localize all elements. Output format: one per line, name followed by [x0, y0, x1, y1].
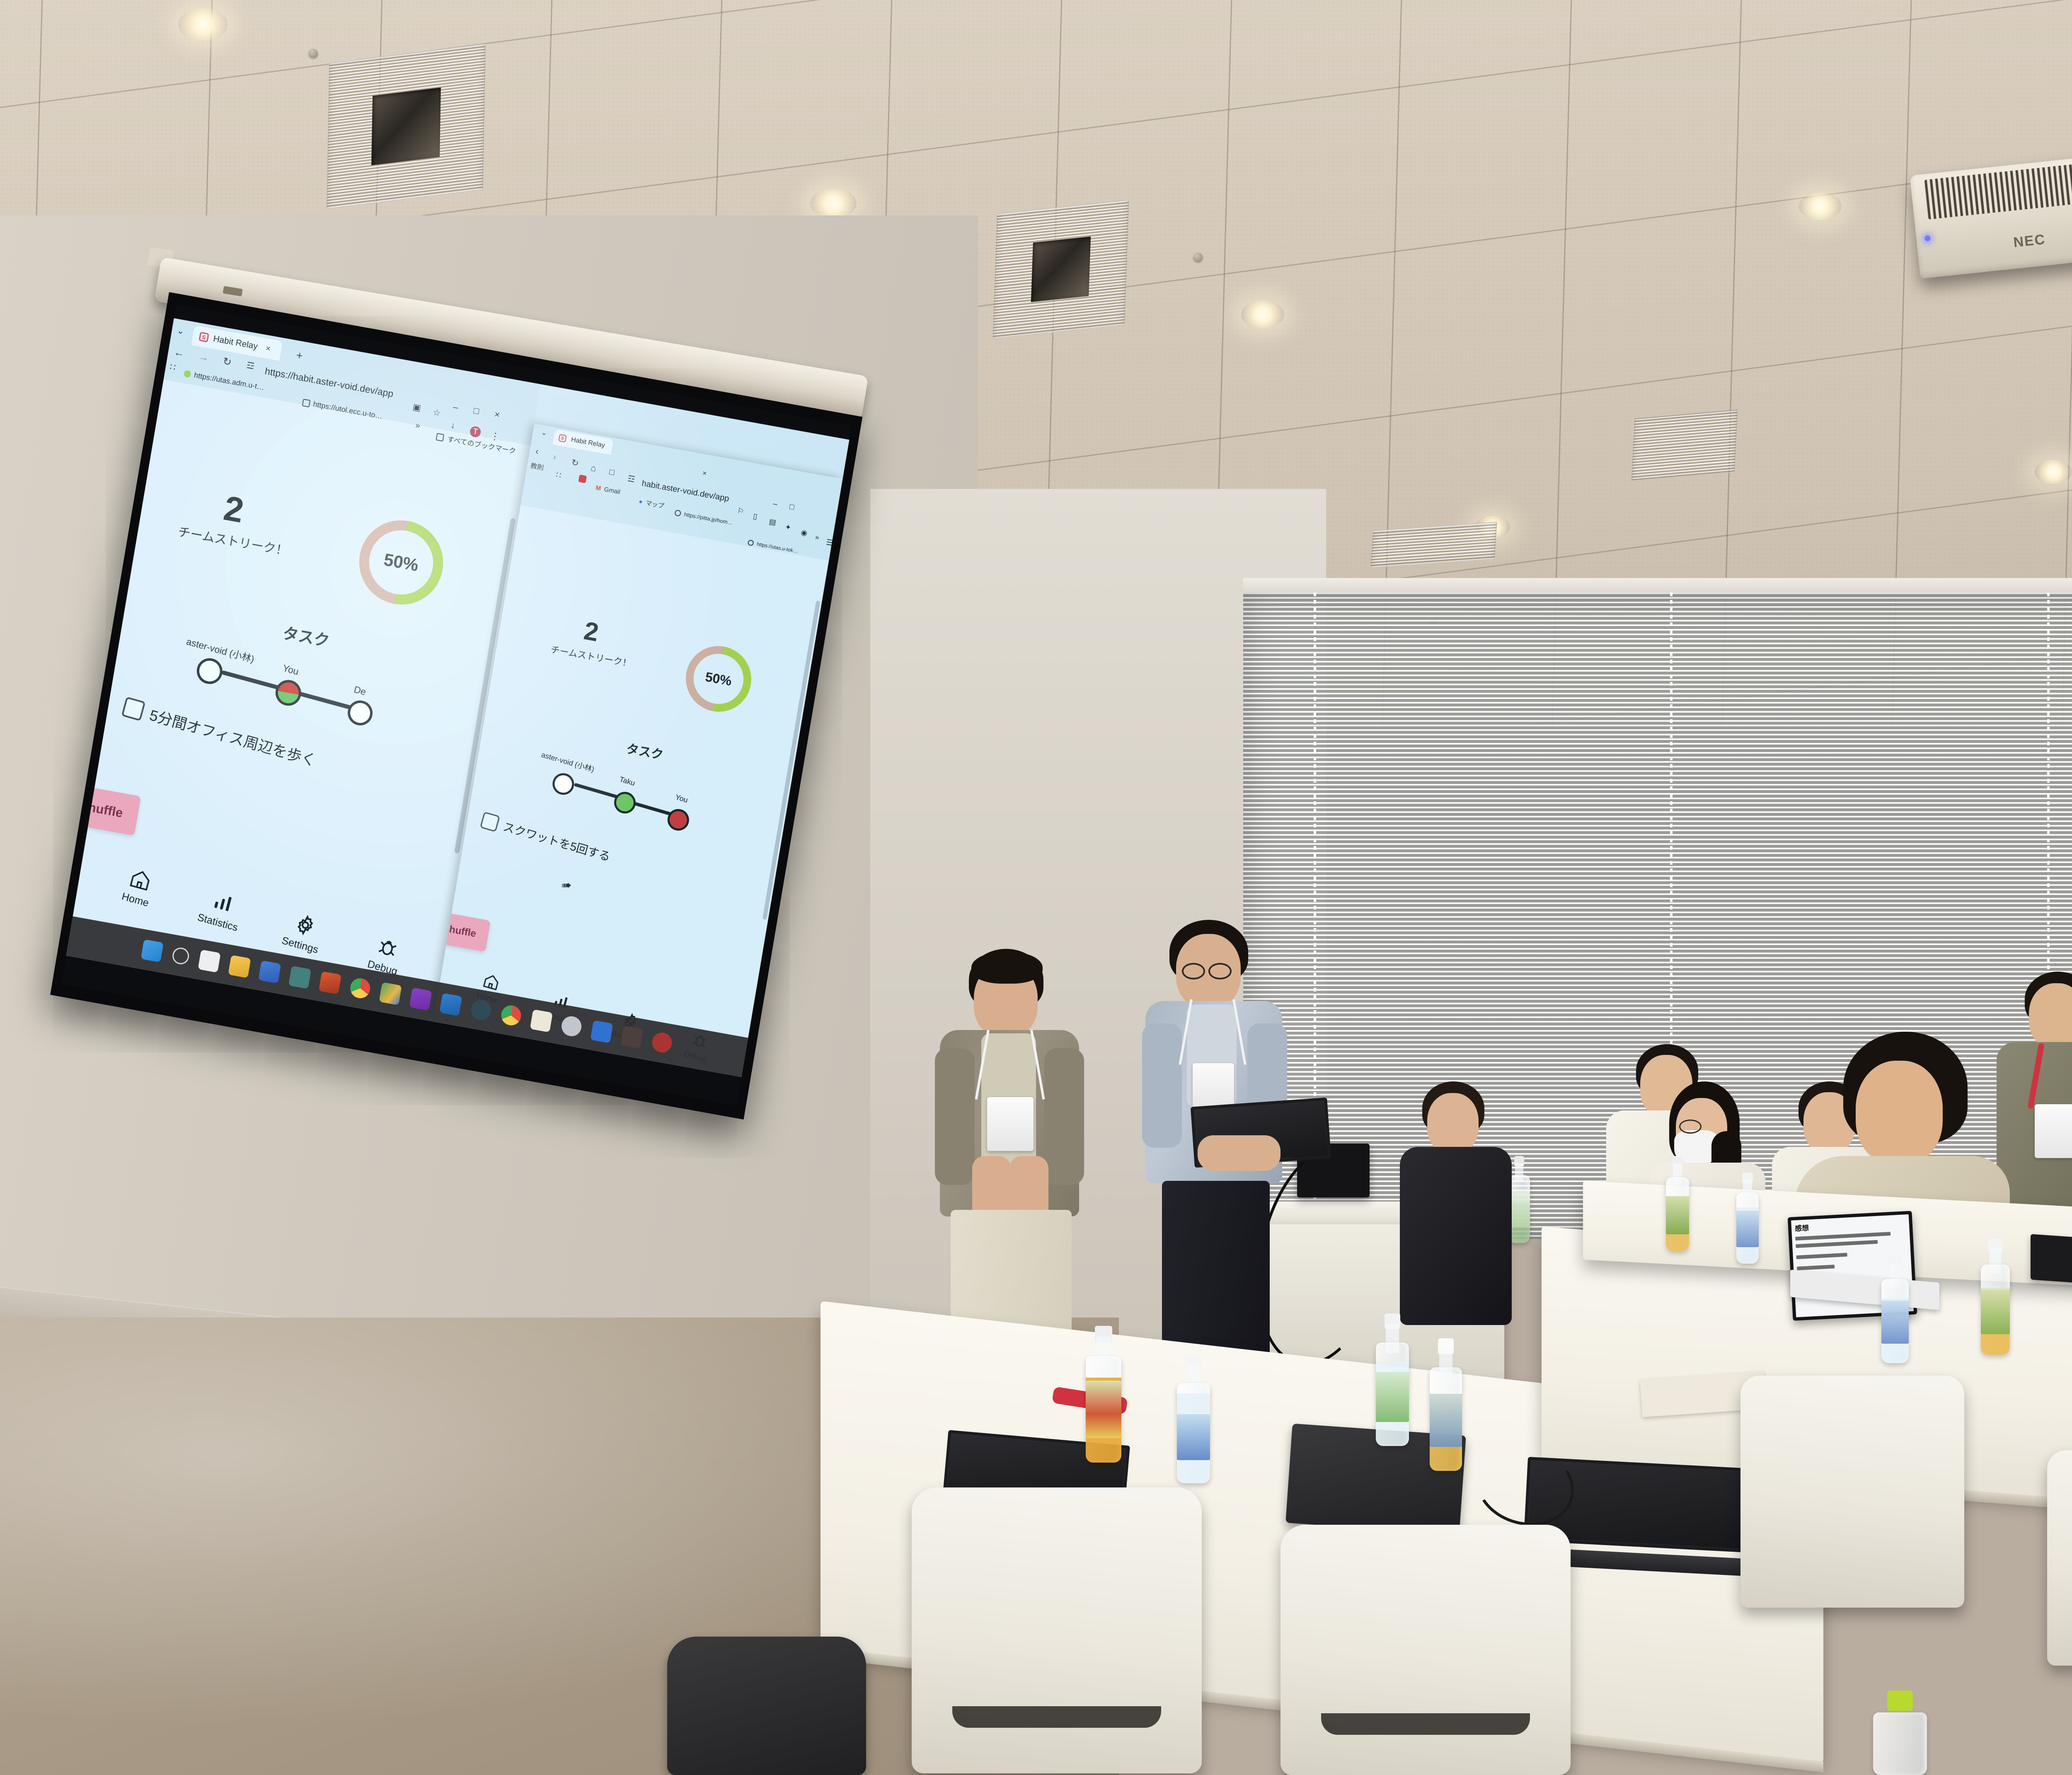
bottle-label — [1881, 1301, 1909, 1344]
tab-title: Habit Relay — [213, 334, 259, 352]
relay-node[interactable] — [346, 699, 375, 728]
downlight — [2035, 460, 2072, 484]
gear-icon — [292, 912, 318, 938]
relay-node[interactable] — [612, 790, 637, 815]
menu-icon[interactable]: ☰ — [825, 537, 834, 548]
tab-favicon-icon: S — [198, 332, 209, 343]
bookmark-label: https://utas.u-tok… — [756, 541, 798, 554]
settings-icon[interactable] — [560, 1015, 583, 1038]
bookmark-label: https://pitta.jp/hom… — [684, 511, 733, 526]
relay-connector — [574, 783, 619, 798]
todo-label: スクワットを5回する — [501, 818, 612, 865]
tab-close-icon[interactable]: × — [702, 469, 707, 478]
chrome-icon-2[interactable] — [500, 1004, 523, 1027]
globe-icon — [748, 539, 754, 546]
head — [2029, 983, 2072, 1049]
torso — [1400, 1147, 1512, 1325]
bookmark-item[interactable]: https://utas.u-tok… — [748, 539, 799, 554]
relay-chain-right: aster-void (小林) Taku You — [529, 751, 725, 838]
reload-icon[interactable]: ↻ — [222, 355, 233, 369]
vent-core — [371, 87, 441, 165]
forearm — [1198, 1135, 1280, 1171]
chair[interactable] — [2047, 1450, 2072, 1666]
glasses-left — [1182, 963, 1205, 979]
relay-node[interactable] — [551, 771, 576, 796]
maximize-icon[interactable]: □ — [473, 405, 480, 417]
streak-value: 2 — [582, 618, 600, 646]
task-view-icon[interactable] — [198, 950, 220, 973]
back-icon[interactable]: ← — [173, 346, 185, 360]
arm-left — [1142, 1023, 1182, 1148]
folder-icon — [436, 433, 444, 441]
relay-node-label: You — [281, 663, 300, 677]
tasks-heading: タスク — [625, 738, 665, 763]
todo-checkbox[interactable] — [121, 696, 146, 721]
file-explorer-icon[interactable] — [228, 955, 251, 978]
glasses-right — [1208, 963, 1232, 979]
bell-icon[interactable]: ⚐ — [736, 506, 744, 516]
attendee-black-top — [1397, 1081, 1521, 1330]
tune-icon[interactable]: ☲ — [246, 360, 255, 372]
maps-pin-icon: ● — [638, 498, 643, 505]
tab-title: Habit Relay — [571, 436, 605, 450]
relay-connector — [221, 670, 282, 691]
water-bottle[interactable] — [1086, 1326, 1121, 1463]
onenote-icon[interactable] — [409, 987, 432, 1011]
bottle-label — [1981, 1288, 2010, 1334]
chair[interactable] — [1740, 1376, 1964, 1608]
bottle-label — [1736, 1211, 1759, 1247]
screen-brand-badge — [223, 286, 242, 296]
projector-status-led — [1924, 235, 1931, 242]
bottle-label — [1430, 1394, 1462, 1447]
progress-ring-left: 50% — [349, 508, 454, 617]
bookmark-dot-icon — [183, 370, 191, 378]
tab-favicon-icon: S — [558, 434, 567, 443]
head — [1856, 1061, 1943, 1164]
nav-label: Home — [120, 890, 150, 909]
nav-label: Statistics — [196, 912, 239, 934]
bottle-label — [1666, 1196, 1689, 1234]
slide-line — [1797, 1265, 1835, 1270]
translate-icon[interactable]: ▣ — [412, 402, 422, 414]
browser-chrome-right: ⌄ S Habit Relay ‹ › ↻ ⌂ □ ☲ — [520, 423, 842, 561]
steam-icon[interactable] — [470, 999, 492, 1022]
recorder-icon[interactable] — [651, 1031, 673, 1054]
forward-icon[interactable]: → — [198, 351, 210, 364]
todo-item-right[interactable]: スクワットを5回する — [480, 812, 612, 865]
bookmark-label: Gmail — [603, 486, 620, 496]
water-bottle[interactable] — [1376, 1313, 1409, 1446]
tab-list-chevron-icon[interactable]: ⌄ — [176, 325, 185, 337]
bottle-cap — [1887, 1690, 1913, 1711]
collections-icon[interactable]: ▤ — [768, 517, 777, 527]
relay-node[interactable] — [666, 807, 691, 832]
ceiling-air-vent — [327, 44, 485, 209]
relay-node-label: Taku — [618, 775, 636, 788]
bookmark-item[interactable]: https://pitta.jp/hom… — [674, 510, 733, 526]
screen-surface: ⌄ S Habit Relay × + ← → ↻ — [61, 305, 852, 1106]
chair-handle-slot — [952, 1706, 1161, 1728]
water-bottle[interactable] — [1666, 1156, 1689, 1251]
nav-label: Settings — [281, 935, 320, 956]
bookmark-label: https://utol.ecc.u-to… — [312, 400, 383, 421]
zoom-icon[interactable] — [590, 1020, 613, 1043]
relay-node-label: You — [674, 793, 689, 805]
bookmark-icon[interactable]: □ — [609, 467, 615, 478]
relay-node-label: aster-void (小林) — [540, 749, 596, 774]
ceiling-air-vent — [1631, 409, 1738, 481]
bookmark-square-icon — [302, 399, 311, 407]
slide-line — [1796, 1240, 1878, 1248]
projection-screen: ⌄ S Habit Relay × + ← → ↻ — [50, 292, 862, 1120]
water-bottle[interactable] — [1736, 1173, 1759, 1264]
glasses — [1679, 1120, 1702, 1134]
relay-node-label: aster-void (小林) — [185, 634, 256, 665]
chair-handle-slot — [1321, 1713, 1530, 1735]
terminal-icon[interactable] — [620, 1025, 643, 1049]
back-icon[interactable]: ‹ — [535, 446, 540, 457]
head — [1427, 1093, 1479, 1154]
water-bottle[interactable] — [1430, 1338, 1462, 1471]
relay-node[interactable] — [274, 678, 303, 708]
bookmark-item[interactable]: M Gmail — [595, 484, 621, 496]
ceiling-air-vent — [993, 200, 1129, 339]
backpack[interactable] — [667, 1637, 866, 1775]
reload-icon[interactable]: ↻ — [571, 457, 580, 469]
chrome-icon[interactable] — [349, 977, 372, 1000]
chair[interactable] — [1280, 1525, 1571, 1775]
home-icon — [481, 972, 501, 992]
brave-icon[interactable] — [319, 971, 341, 994]
bar-chart-icon — [210, 889, 236, 916]
bug-icon — [375, 935, 401, 961]
chair[interactable] — [912, 1487, 1202, 1773]
water-bottle-foreground[interactable] — [1873, 1690, 1927, 1775]
progress-ring-right: 50% — [678, 636, 759, 722]
relay-node[interactable] — [195, 656, 224, 686]
bookmark-item[interactable]: ● マップ — [638, 497, 665, 510]
conference-room-scene: NEC ⌄ S Ha — [0, 0, 2072, 1775]
forward-icon[interactable]: › — [552, 452, 557, 463]
mouse-cursor: ➠ — [561, 878, 572, 893]
drive-icon[interactable] — [379, 982, 402, 1005]
streak-value: 2 — [221, 490, 246, 528]
bottle-label — [1177, 1414, 1210, 1461]
sprinkler-head — [1193, 253, 1203, 262]
water-bottle[interactable] — [1881, 1255, 1909, 1363]
bottle-label — [1376, 1372, 1409, 1422]
downlight — [178, 8, 228, 41]
projector-brand-label: NEC — [2013, 232, 2046, 251]
home-icon[interactable]: ⌂ — [590, 462, 597, 474]
arm-right — [1044, 1048, 1084, 1185]
slide-line — [1795, 1232, 1891, 1241]
minimize-icon[interactable]: – — [772, 499, 778, 509]
globe-icon — [674, 510, 681, 517]
downlight — [1241, 300, 1284, 329]
projected-image: ⌄ S Habit Relay × + ← → ↻ — [66, 318, 849, 1077]
bottle-label — [1086, 1381, 1121, 1438]
vent-core — [1031, 237, 1090, 302]
hair-fringe — [971, 951, 1043, 984]
relay-chain-left: aster-void (小林) You De — [178, 636, 391, 730]
editor-icon[interactable] — [258, 960, 281, 984]
progress-percent-label: 50% — [678, 636, 759, 722]
downlight — [810, 189, 857, 218]
sprinkler-head — [309, 49, 318, 58]
water-bottle[interactable] — [1981, 1239, 2010, 1355]
vscode-icon[interactable] — [439, 993, 462, 1016]
bookmark-item[interactable] — [578, 474, 587, 483]
name-badge — [2035, 1104, 2072, 1158]
progress-percent-label: 50% — [349, 508, 454, 617]
relay-node-label: De — [353, 684, 367, 698]
app-icon-teal[interactable] — [288, 966, 311, 989]
close-icon[interactable]: × — [265, 343, 271, 354]
arm-left — [935, 1048, 975, 1185]
bottle-body — [1873, 1712, 1927, 1775]
water-bottle[interactable] — [1177, 1355, 1210, 1483]
todo-checkbox[interactable] — [480, 812, 500, 832]
presenter-right — [1144, 920, 1310, 1413]
search-icon[interactable] — [171, 946, 190, 966]
home-icon — [127, 866, 153, 893]
slide-title: 感想 — [1794, 1217, 1906, 1233]
gmail-icon: M — [595, 484, 601, 492]
bookmark-label: マップ — [645, 498, 665, 510]
bookmark-item[interactable]: https://utol.ecc.u-to… — [302, 398, 383, 421]
windows-start-icon[interactable] — [141, 939, 164, 962]
slide-line — [1796, 1253, 1848, 1259]
tasks-heading: タスク — [281, 620, 332, 651]
tab-list-chevron-icon[interactable]: ⌄ — [540, 428, 547, 438]
downlight — [1798, 193, 1842, 220]
slack-icon[interactable] — [530, 1009, 553, 1033]
gmail-icon — [578, 474, 587, 483]
name-badge — [987, 1097, 1034, 1151]
new-tab-button[interactable]: + — [295, 349, 304, 363]
